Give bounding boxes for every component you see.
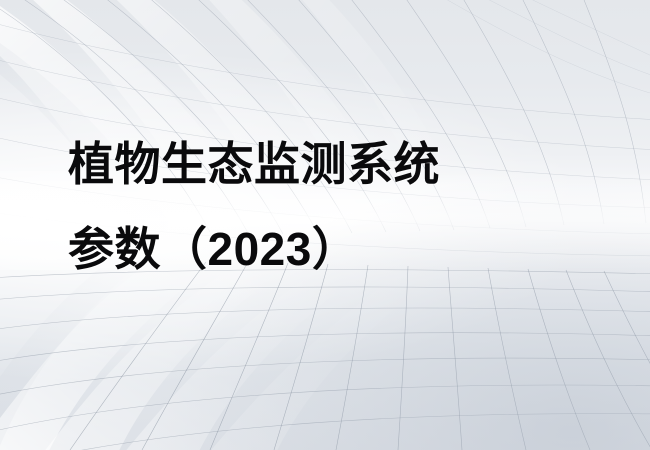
title-slide: 植物生态监测系统 参数（2023） [0, 0, 650, 450]
title-line-2: 参数（2023） [68, 207, 608, 292]
page-title: 植物生态监测系统 参数（2023） [68, 122, 608, 292]
title-line-1: 植物生态监测系统 [68, 122, 608, 207]
